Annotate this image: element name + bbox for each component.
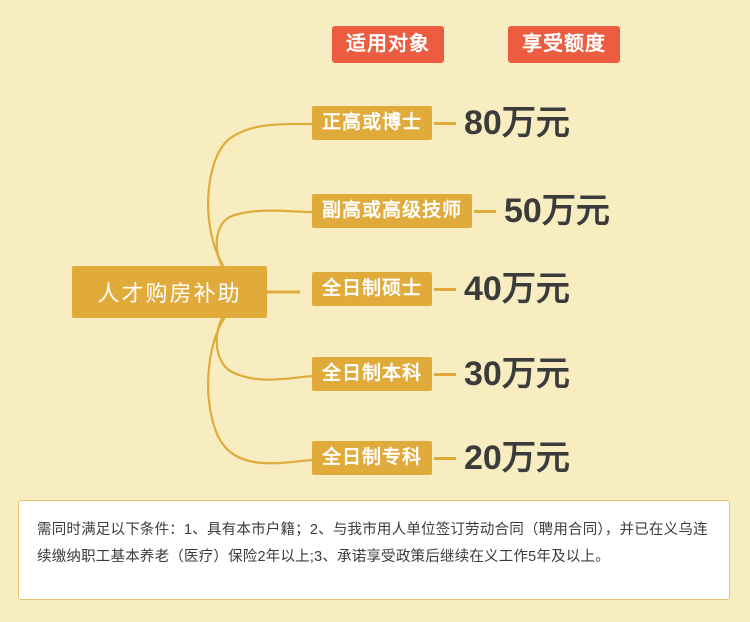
branch-row: 全日制专科 20万元 — [312, 441, 570, 475]
branch-label: 副高或高级技师 — [312, 194, 472, 228]
footnote-text: 需同时满足以下条件：1、具有本市户籍；2、与我市用人单位签订劳动合同（聘用合同）… — [37, 517, 711, 571]
branch-row: 正高或博士 80万元 — [312, 106, 570, 140]
branch-label: 全日制本科 — [312, 357, 432, 391]
header-pill-amount: 享受额度 — [508, 26, 620, 63]
branch-row: 全日制硕士 40万元 — [312, 272, 570, 306]
branch-dash — [434, 373, 456, 376]
branch-amount: 40万元 — [464, 272, 570, 306]
branch-amount: 30万元 — [464, 357, 570, 391]
branch-row: 全日制本科 30万元 — [312, 357, 570, 391]
branch-label: 全日制硕士 — [312, 272, 432, 306]
header-pill-target: 适用对象 — [332, 26, 444, 63]
branch-amount: 20万元 — [464, 441, 570, 475]
branch-amount: 50万元 — [504, 194, 610, 228]
infographic-canvas: 适用对象 享受额度 人才购房补助 正高或博士 80万元 副高或高级技师 50万元… — [0, 0, 750, 622]
branch-row: 副高或高级技师 50万元 — [312, 194, 610, 228]
branch-dash — [434, 288, 456, 291]
branch-dash — [434, 122, 456, 125]
branch-dash — [474, 210, 496, 213]
branch-label: 全日制专科 — [312, 441, 432, 475]
footnote-box: 需同时满足以下条件：1、具有本市户籍；2、与我市用人单位签订劳动合同（聘用合同）… — [18, 500, 730, 600]
root-node: 人才购房补助 — [72, 266, 267, 318]
branch-dash — [434, 457, 456, 460]
branch-amount: 80万元 — [464, 106, 570, 140]
branch-label: 正高或博士 — [312, 106, 432, 140]
